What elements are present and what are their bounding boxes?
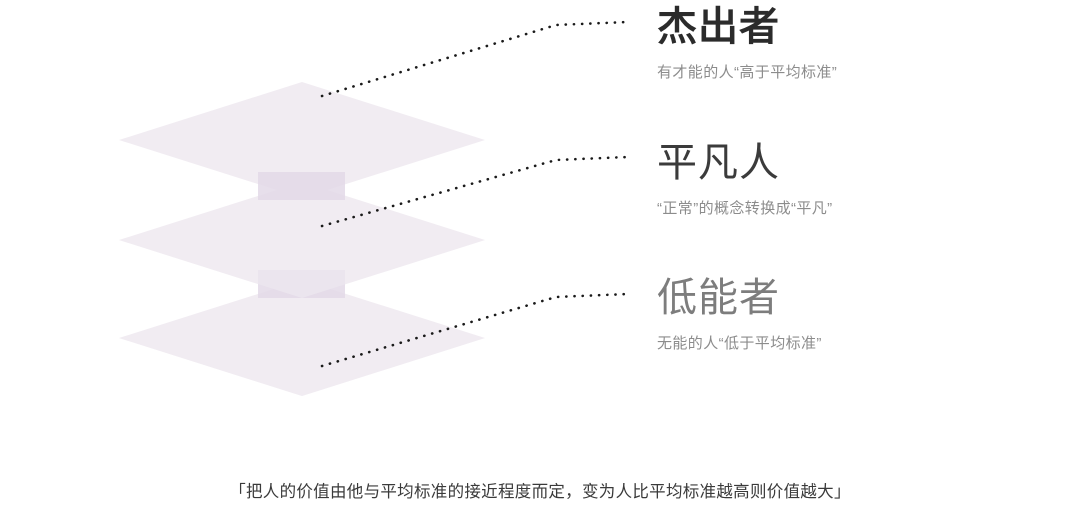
- label-group-outstanding: 杰出者 有才能的人“高于平均标准”: [657, 6, 837, 82]
- label-group-incompetent: 低能者 无能的人“低于平均标准”: [657, 277, 822, 353]
- label-group-ordinary: 平凡人 “正常”的概念转换成“平凡”: [657, 142, 833, 218]
- footer-caption: 「把人的价值由他与平均标准的接近程度而定，变为人比平均标准越高则价值越大」: [0, 478, 1080, 502]
- plane-bottom-front: [119, 338, 485, 396]
- subtitle-incompetent: 无能的人“低于平均标准”: [657, 332, 822, 353]
- slide-canvas: 杰出者 有才能的人“高于平均标准” 平凡人 “正常”的概念转换成“平凡” 低能者…: [0, 0, 1080, 518]
- overlap-square-upper: [258, 172, 345, 200]
- heading-ordinary: 平凡人: [657, 142, 833, 184]
- plane-middle-front: [119, 240, 485, 298]
- heading-outstanding: 杰出者: [657, 6, 837, 48]
- heading-incompetent: 低能者: [657, 277, 822, 319]
- isometric-layers-diagram: [0, 0, 660, 440]
- subtitle-ordinary: “正常”的概念转换成“平凡”: [657, 197, 833, 218]
- leader-line-top: [322, 22, 628, 96]
- subtitle-outstanding: 有才能的人“高于平均标准”: [657, 61, 837, 82]
